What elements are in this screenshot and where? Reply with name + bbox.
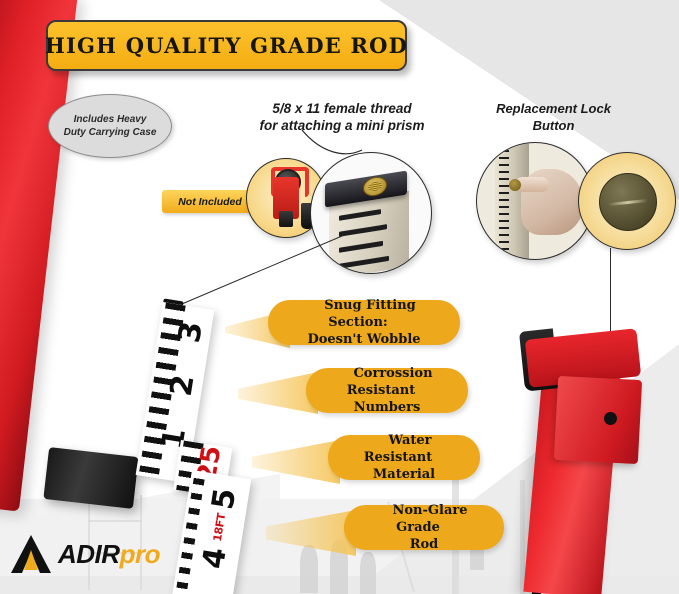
- callout-4-line1: Non-Glare Grade: [381, 503, 468, 535]
- prism-stem: [279, 211, 293, 227]
- lock-button-disc: [599, 173, 657, 231]
- rod-top-slot-3: [339, 241, 383, 253]
- silhouette-worker-3: [360, 552, 376, 594]
- callout-2-line1: Corrossion Resistant: [341, 366, 432, 398]
- carrying-case-badge-line1: Includes Heavy: [74, 114, 147, 125]
- infographic-canvas: HIGH QUALITY GRADE ROD Includes Heavy Du…: [0, 0, 679, 594]
- not-included-banner: Not Included: [162, 190, 258, 213]
- brand-logo: ADIRpro: [10, 534, 160, 574]
- callout-4-line2: Rod: [398, 537, 451, 552]
- carrying-case-badge: Includes Heavy Duty Carrying Case: [48, 94, 172, 158]
- silhouette-worker-1: [300, 545, 318, 593]
- callout-1-line1: Snug Fitting Section:: [312, 298, 416, 330]
- header-banner: HIGH QUALITY GRADE ROD: [46, 20, 407, 71]
- logo-pro-text: pro: [120, 539, 160, 569]
- callout-water-resistant: Water Resistant Material: [328, 435, 480, 480]
- black-end-cap-left: [43, 447, 138, 509]
- lock-heading-line2: Button: [533, 118, 575, 133]
- lock-button-closeup-photo: [578, 152, 676, 250]
- not-included-label: Not Included: [178, 196, 242, 208]
- grade-rod-label-18ft: 18FT: [211, 513, 228, 543]
- logo-adir-text: ADIR: [58, 539, 120, 569]
- adirpro-chevron-icon: [10, 534, 52, 574]
- callout-1-line2: Doesn't Wobble: [295, 332, 432, 347]
- case-front-pocket: [554, 376, 642, 464]
- lock-heading-line1: Replacement Lock: [496, 101, 611, 116]
- rod-top-slot-1: [339, 209, 381, 221]
- rod-top-thread-photo: [310, 152, 432, 274]
- lock-button-heading: Replacement Lock Button: [466, 100, 641, 134]
- callout-3-line1: Water Resistant: [364, 433, 445, 465]
- rod-top-slot-2: [339, 224, 387, 237]
- logo-wordmark: ADIRpro: [58, 539, 160, 570]
- callout-non-glare: Non-Glare Grade Rod: [344, 505, 504, 550]
- carrying-case-badge-line2: Duty Carrying Case: [64, 127, 157, 138]
- lock-button-hand-photo: [476, 142, 594, 260]
- callout-2-line2: Numbers: [342, 400, 433, 415]
- lock-button-on-rod-icon: [509, 179, 521, 191]
- case-connector-endpoint: [604, 412, 617, 425]
- lock-button-slot: [608, 198, 648, 205]
- grade-rod-number-3-lower: 3: [189, 591, 227, 594]
- red-carrying-tube-left: [0, 0, 78, 512]
- callout-3-line2: Material: [361, 467, 447, 482]
- grade-rod-number-5: 5: [205, 486, 243, 512]
- grade-rod-number-4: 4: [196, 545, 234, 571]
- callout-snug-fitting: Snug Fitting Section: Doesn't Wobble: [268, 300, 460, 345]
- silhouette-beam-left: [88, 520, 142, 522]
- rod-graduation-ticks: [499, 143, 509, 260]
- rod-top-slot-4: [339, 256, 389, 269]
- page-title: HIGH QUALITY GRADE ROD: [45, 33, 408, 58]
- callout-corrosion-resistant: Corrossion Resistant Numbers: [306, 368, 468, 413]
- thread-heading-line1: 5/8 x 11 female thread: [272, 101, 411, 116]
